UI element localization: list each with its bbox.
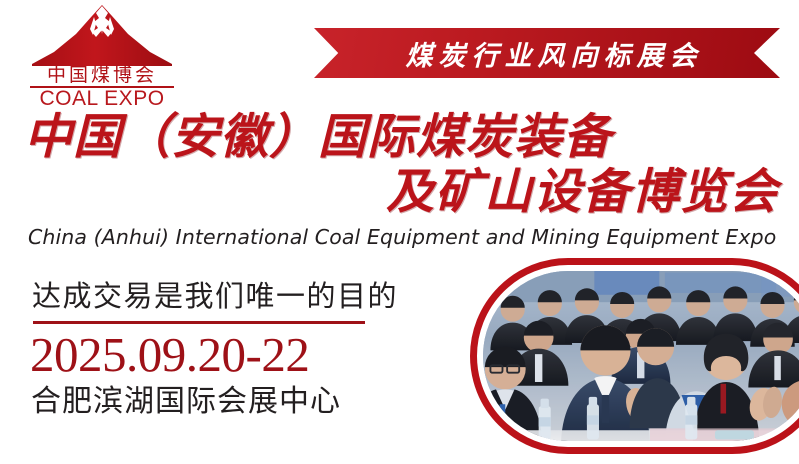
title-line-2: 及矿山设备博览会 [24,165,778,220]
tagline-ribbon: 煤炭行业风向标展会 [314,28,780,78]
ribbon-label: 煤炭行业风向标展会 [388,34,707,73]
logo-chinese-name: 中国煤博会 [24,64,180,86]
logo-english-name: COAL EXPO [24,87,180,111]
event-venue: 合肥滨湖国际会展中心 [31,384,341,420]
page-title: 中国（安徽）国际煤炭装备 及矿山设备博览会 [24,110,778,220]
event-date: 2025.09.20-22 [30,327,309,383]
slogan-text: 达成交易是我们唯一的目的 [32,279,398,313]
audience-photo [483,271,799,441]
brand-logo[interactable]: 中国煤博会 COAL EXPO [24,4,180,108]
title-line-1: 中国（安徽）国际煤炭装备 [24,110,778,165]
audience-photo-frame [470,258,799,454]
expo-poster: 中国煤博会 COAL EXPO 煤炭行业风向标展会 中国（安徽）国际煤炭装备 及… [0,0,799,464]
info-divider [33,321,365,324]
english-subtitle: China (Anhui) International Coal Equipme… [28,225,778,249]
mountain-icon [32,4,172,66]
